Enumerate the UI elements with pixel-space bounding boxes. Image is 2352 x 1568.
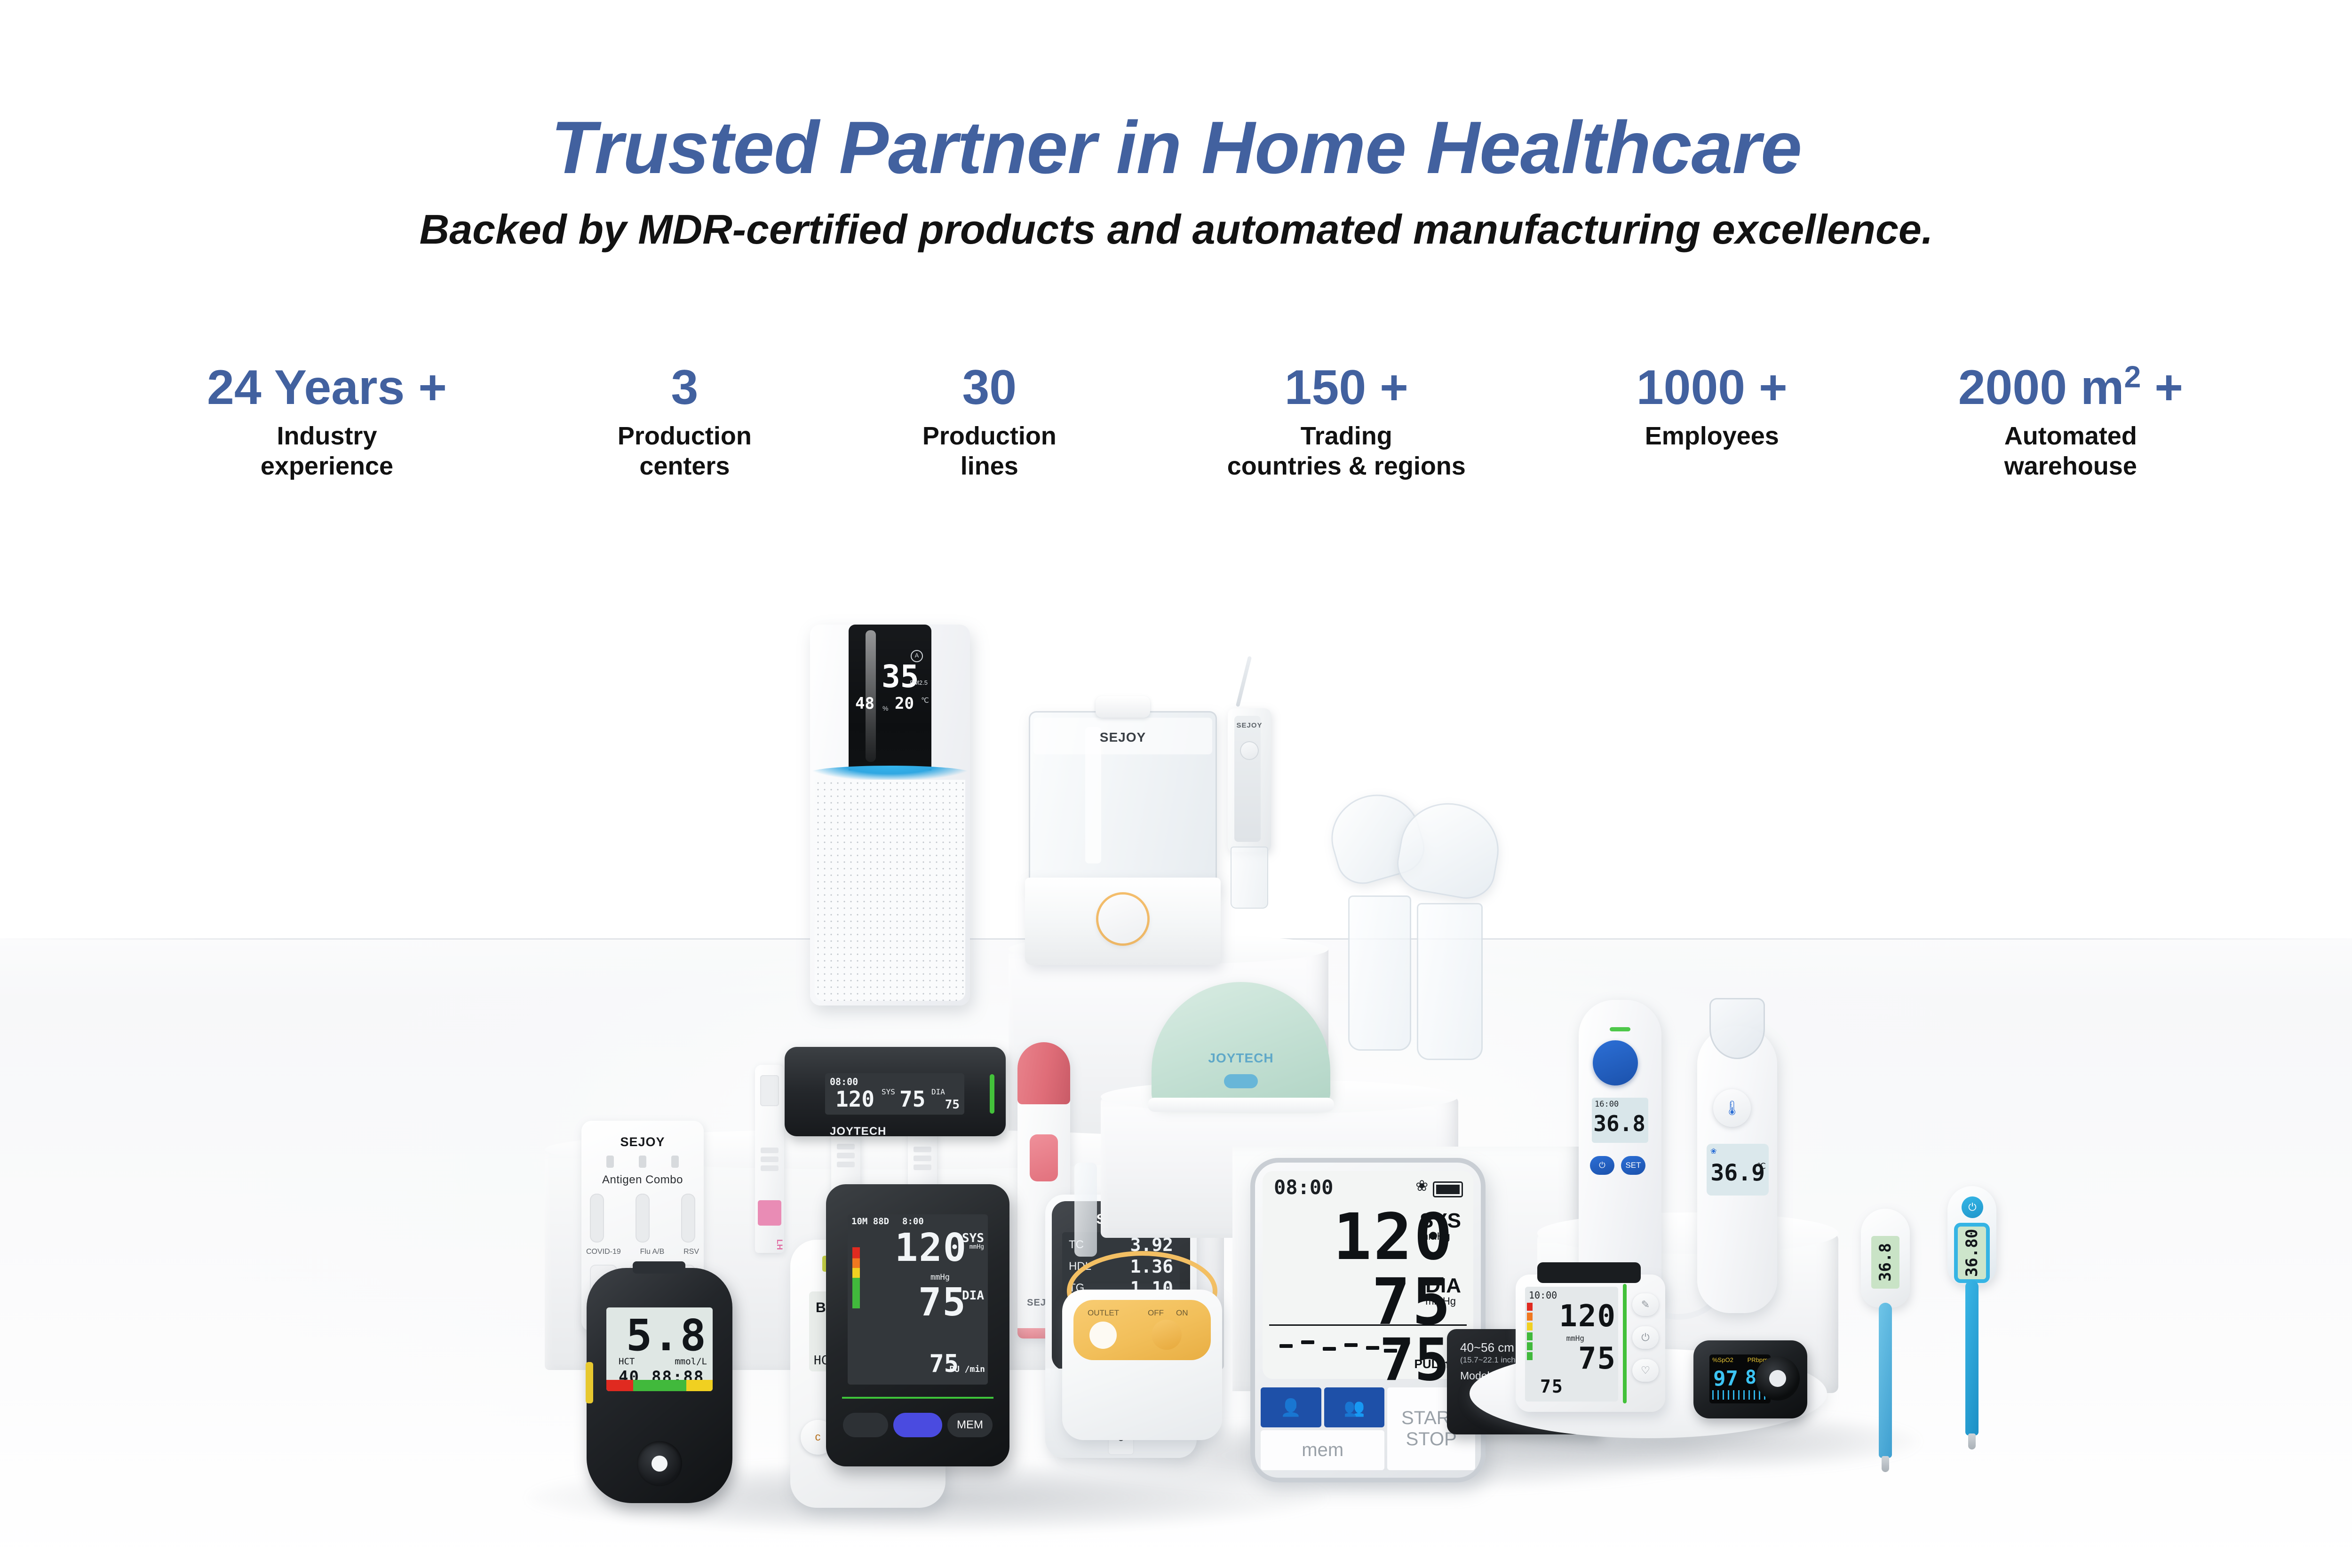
power-button[interactable]: ⏻ [1962, 1196, 1983, 1218]
user-2-button[interactable]: 👥 [1324, 1387, 1385, 1427]
pulse-label: PU /min [949, 1364, 985, 1374]
brand-label: SEJOY [1029, 730, 1217, 745]
stat-item-automated-warehouse: 2000 m2 + Automated warehouse [1958, 363, 2183, 481]
bp-display: 10M 88D 8:00 120 SYS mmHg mmHg 75 DIA 75… [848, 1214, 988, 1385]
sys-label-block: SYSmmHg [1420, 1211, 1461, 1242]
range-band [606, 1380, 713, 1391]
bluetooth-icon: ❀ [1710, 1147, 1716, 1156]
thermometer-probe-cap [1709, 998, 1765, 1059]
irrigator-nozzle [1236, 656, 1252, 707]
stat-label: Industry experience [261, 421, 393, 481]
pulse-value: 75 [1540, 1376, 1564, 1397]
nebulizer-neck-tube [1074, 1163, 1097, 1257]
bp-display: 10:00 120 mmHg 75 75 [1525, 1287, 1618, 1402]
power-switch[interactable] [1152, 1320, 1182, 1350]
temperature-unit: ℃ [1757, 1162, 1766, 1171]
time-value: 16:00 [1595, 1100, 1619, 1109]
page-title: Trusted Partner in Home Healthcare [0, 109, 2352, 187]
dia-label: DIA [962, 1289, 984, 1303]
time-value: 8:00 [902, 1216, 924, 1227]
outlet-label: OUTLET [1088, 1308, 1119, 1318]
battery-icon [1433, 1181, 1463, 1197]
sys-label: SYS [1420, 1209, 1461, 1232]
sys-value: 120 [1559, 1299, 1616, 1334]
irrigator-control-panel [1234, 716, 1261, 842]
stat-value: 1000 + [1637, 363, 1788, 412]
product-ear-thermometer: 🌡 ❀ 36.9 ℃ [1697, 1026, 1777, 1313]
power-button[interactable]: ⏻ [1632, 1326, 1659, 1349]
accent-strip [1623, 1284, 1627, 1403]
bp-display: 08:00 ❀ 120 SYSmmHg 75 DIAmmHg 75 PUL/mi… [1263, 1171, 1473, 1379]
temperature-value: 36.9 [1707, 1160, 1765, 1186]
wrist-bp-buttons: ✎ ⏻ ♡ [1632, 1293, 1659, 1382]
result-window [760, 1075, 779, 1106]
power-button[interactable] [1224, 1074, 1258, 1088]
stat-label: Trading countries & regions [1227, 421, 1466, 481]
lancet-cap [1017, 1042, 1070, 1104]
stat-label: Production centers [618, 421, 752, 481]
grip-bars [761, 1148, 779, 1174]
glucose-value: 5.8 [626, 1310, 707, 1361]
stat-value-post: + [2141, 360, 2183, 415]
thermometer-head: ⏻ 36.80 [1947, 1186, 1996, 1285]
thermometer-display: 16:00 36.8 [1592, 1098, 1648, 1143]
spo2-label: %SpO2 [1712, 1356, 1733, 1363]
stat-item-years: 24 Years + Industry experience [207, 363, 447, 481]
temperature-value: 36.8 [1876, 1243, 1895, 1282]
time-value: 08:00 [830, 1076, 858, 1087]
stat-label: Employees [1645, 421, 1779, 451]
oximeter-labels: %SpO2 PRbpm [1712, 1356, 1768, 1363]
product-bp-monitor-wrist: 10:00 120 mmHg 75 75 ✎ ⏻ ♡ [1516, 1275, 1665, 1412]
status-led [990, 1074, 994, 1114]
grip-bars [837, 1144, 855, 1171]
thermometer-display: 36.80 [1958, 1227, 1986, 1279]
product-bp-monitor-arm-black: 10M 88D 8:00 120 SYS mmHg mmHg 75 DIA 75… [826, 1184, 1009, 1466]
temperature-value: 36.8 [1592, 1111, 1645, 1136]
result-window [590, 1194, 604, 1243]
product-air-purifier: A 35 PM2.5 48 % 20 ℃ [810, 625, 970, 1006]
temperature-value: 36.80 [1963, 1229, 1981, 1277]
pen-test-label: LH [755, 1239, 784, 1250]
product-bp-monitor-upper-black: 08:00 120 SYS 75 DIA 75 JOYTECH [785, 1047, 1006, 1141]
brand-label: JOYTECH [830, 1125, 886, 1138]
stat-item-trading-countries: 150 + Trading countries & regions [1227, 363, 1466, 481]
stat-label: Automated warehouse [2004, 421, 2137, 481]
bp-button-grid: 👤 👥 START STOP mem [1261, 1387, 1475, 1470]
temperature-unit: ℃ [921, 696, 929, 705]
test-name: RSV [683, 1248, 699, 1256]
hero-banner: Trusted Partner in Home Healthcare Backe… [0, 0, 2352, 1568]
sys-value: 120 [835, 1086, 874, 1112]
display-divider [1269, 1324, 1467, 1326]
date-value: 10M 88D [851, 1216, 889, 1227]
thermometer-display: ❀ 36.9 ℃ [1707, 1144, 1769, 1196]
pump-base [1148, 1098, 1334, 1112]
stat-value-pre: 2000 m [1958, 360, 2124, 415]
dia-label: DIA [1425, 1274, 1461, 1297]
on-label: ON [1176, 1308, 1188, 1318]
thermometer-buttons: ⏻ SET [1590, 1156, 1645, 1175]
power-button[interactable] [893, 1413, 942, 1437]
thermometer-display: 36.8 [1871, 1236, 1899, 1289]
strip-port[interactable] [637, 1441, 682, 1486]
sys-label: SYS [882, 1087, 895, 1096]
dia-label-block: DIAmmHg [1425, 1275, 1461, 1307]
grip-bars [914, 1147, 931, 1173]
thermometer-probe [1965, 1280, 1979, 1435]
edit-button[interactable]: ✎ [1632, 1293, 1659, 1316]
glucose-unit: mmol/L [675, 1356, 707, 1367]
meter-display: 5.8 mmol/L HCT 40 88:88 [606, 1307, 713, 1391]
spo2-value: 97 [1713, 1367, 1738, 1391]
product-breast-pump-kit [1317, 795, 1515, 1152]
purifier-light-ring [808, 766, 972, 781]
milk-bottle [1417, 903, 1483, 1060]
stats-row: 24 Years + Industry experience 3 Product… [207, 363, 2183, 504]
finger-slot [1756, 1356, 1800, 1401]
memory-button[interactable]: ♡ [1632, 1359, 1659, 1382]
product-pulse-oximeter: %SpO2 PRbpm 97 88 [1693, 1340, 1807, 1418]
range-indicator-bars [1527, 1303, 1533, 1362]
ear-measure-button[interactable] [1593, 1040, 1638, 1085]
humidity-value: 48 [855, 694, 874, 713]
brand-label: SEJOY [1228, 721, 1271, 729]
hct-label: HCT [619, 1356, 635, 1367]
power-button[interactable] [1240, 741, 1259, 760]
outlet-port [1089, 1322, 1117, 1349]
range-bar [852, 1247, 860, 1308]
stop-label: STOP [1406, 1429, 1457, 1450]
stat-value-superscript: 2 [2124, 360, 2141, 394]
cuff-size-inch: (15.7~22.1 inch) [1460, 1355, 1518, 1365]
bp-button-row: MEM [843, 1413, 993, 1437]
measure-button[interactable]: 🌡 [1713, 1089, 1751, 1127]
product-oral-irrigator: SEJOY [1228, 691, 1271, 912]
test-name-row: COVID-19 Flu A/B RSV [586, 1248, 699, 1256]
sys-unit: mmHg [969, 1243, 984, 1251]
product-nebulizer: OUTLET OFF ON [1062, 1228, 1222, 1449]
sys-value: 120 [895, 1226, 967, 1270]
dia-value: 75 [918, 1280, 967, 1325]
irrigator-water-tank [1231, 847, 1268, 909]
pm25-value: 35 [882, 658, 919, 695]
humidifier-cap [1096, 696, 1150, 718]
metal-tip [1968, 1433, 1976, 1449]
stat-label: Production lines [922, 421, 1057, 481]
memory-button[interactable]: mem [1261, 1430, 1384, 1470]
irrigator-body: SEJOY [1228, 708, 1271, 852]
sys-unit: mmHg [1420, 1231, 1461, 1242]
sample-wells [581, 1156, 704, 1168]
bluetooth-icon: ❀ [1415, 1177, 1428, 1195]
milk-bottle [1348, 895, 1411, 1051]
stat-item-production-centers: 3 Production centers [618, 363, 752, 481]
page-subtitle: Backed by MDR-certified products and aut… [0, 207, 2352, 253]
user-select-button[interactable] [843, 1413, 888, 1437]
stat-item-employees: 1000 + Employees [1637, 363, 1788, 451]
result-window [681, 1194, 695, 1243]
purifier-display-panel: A 35 PM2.5 48 % 20 ℃ [849, 625, 931, 770]
dia-value: 75 [1578, 1341, 1616, 1376]
push-button[interactable]: PUSH [1030, 1134, 1058, 1181]
dia-label: DIA [931, 1087, 945, 1096]
temperature-value: 20 [895, 694, 914, 713]
off-label: OFF [1148, 1308, 1164, 1318]
result-window [636, 1194, 650, 1243]
product-digital-stick-thermometer-a: 36.8 [1861, 1209, 1910, 1472]
thermometer-head: 36.8 [1861, 1209, 1910, 1307]
stat-value: 30 [962, 363, 1017, 412]
result-windows [590, 1194, 695, 1243]
status-led [1610, 1027, 1630, 1031]
product-digital-stick-thermometer-b: ⏻ 36.80 [1947, 1186, 1996, 1449]
stat-item-production-lines: 30 Production lines [922, 363, 1057, 481]
product-humidifier: SEJOY [1029, 694, 1217, 965]
pen-test-color-tag [758, 1200, 781, 1226]
humidity-unit: % [882, 705, 888, 712]
time-value: 08:00 [1274, 1176, 1333, 1199]
stat-value: 2000 m2 + [1958, 363, 2183, 412]
cuff-size: 40~56 cm [1460, 1340, 1514, 1355]
stat-value: 3 [671, 363, 698, 412]
test-strip-slot [633, 1261, 685, 1274]
power-button[interactable]: ⏻ [1590, 1156, 1614, 1175]
product-bp-monitor-arm: 08:00 ❀ 120 SYSmmHg 75 DIAmmHg 75 PUL/mi… [1250, 1158, 1486, 1482]
dia-unit: mmHg [1425, 1296, 1461, 1307]
test-name: Flu A/B [640, 1248, 665, 1256]
brand-label: SEJOY [581, 1135, 704, 1149]
test-name: COVID-19 [586, 1248, 621, 1256]
cassette-subtitle: Antigen Combo [581, 1173, 704, 1187]
stat-value: 24 Years + [207, 363, 447, 412]
eject-lever[interactable] [586, 1362, 593, 1403]
time-value: 10:00 [1529, 1290, 1557, 1301]
memory-button[interactable]: MEM [947, 1413, 993, 1437]
accent-line [842, 1397, 993, 1399]
product-pen-test-lh: LH [755, 1065, 784, 1253]
thermometer-probe [1879, 1303, 1892, 1458]
dia-value: 75 [899, 1086, 925, 1112]
purifier-air-grille [815, 780, 965, 1001]
wrist-strap [1537, 1262, 1641, 1283]
pm25-label: PM2.5 [910, 679, 928, 686]
bp-display: 08:00 120 SYS 75 DIA 75 [825, 1073, 964, 1115]
pulse-value: 75 [945, 1098, 960, 1112]
user-1-button[interactable]: 👤 [1261, 1387, 1321, 1427]
product-glucose-meter-black: 5.8 mmol/L HCT 40 88:88 [587, 1268, 732, 1503]
brand-label: JOYTECH [1152, 1051, 1330, 1066]
stat-value: 150 + [1285, 363, 1408, 412]
history-trend-chart [1277, 1338, 1399, 1360]
set-button[interactable]: SET [1621, 1156, 1645, 1175]
humidifier-dial[interactable] [1098, 895, 1147, 943]
metal-tip [1882, 1456, 1889, 1472]
humidifier-mist-tube [1085, 727, 1101, 863]
